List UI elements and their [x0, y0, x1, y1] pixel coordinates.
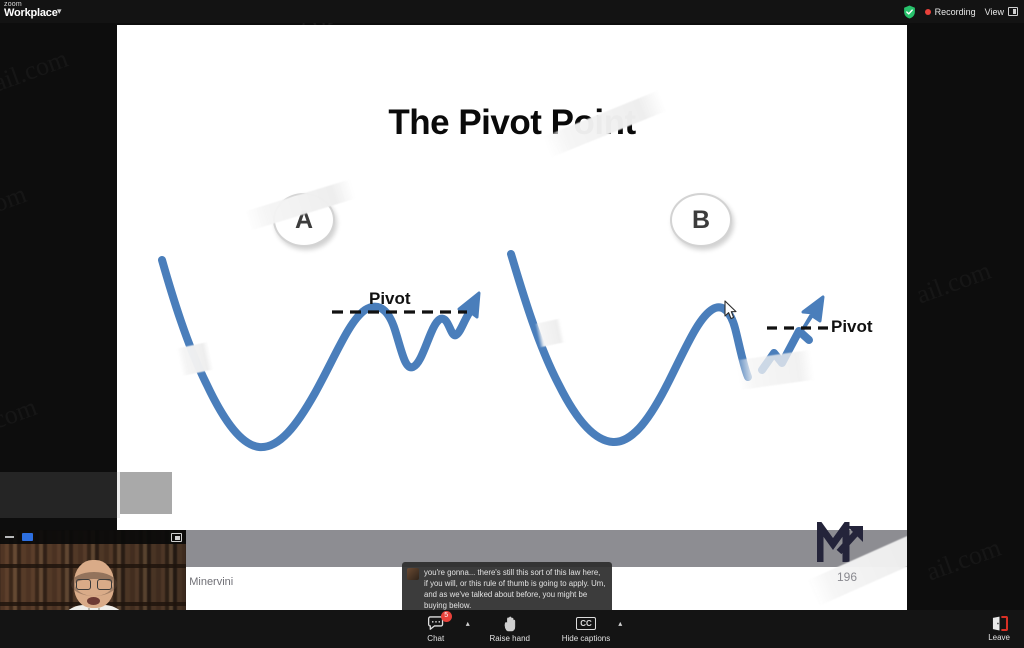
minimize-icon[interactable]: [5, 536, 14, 538]
meeting-toolbar: 5 Chat ▴ Raise hand CC Hide captions ▴: [0, 610, 1024, 648]
view-button[interactable]: View: [985, 7, 1018, 17]
live-caption-box[interactable]: you're gonna... there's still this sort …: [402, 562, 612, 614]
view-label: View: [985, 7, 1004, 17]
zoom-brand[interactable]: zoom Workplace: [4, 1, 58, 20]
caption-text: you're gonna... there's still this sort …: [424, 567, 606, 611]
background-watermark: ail.com: [0, 44, 72, 99]
chevron-down-icon[interactable]: ▾: [57, 6, 62, 17]
breakout-arrow-b-head: [798, 297, 823, 337]
background-watermark: ail.com: [922, 533, 1005, 588]
zoom-brand-main: Workplace: [4, 8, 58, 20]
speaker-avatar: [407, 568, 419, 580]
toolbar-chat-button[interactable]: 5 Chat ▴: [414, 615, 458, 643]
raise-hand-icon: [503, 615, 517, 632]
recording-dot-icon: [925, 9, 931, 15]
glasses-icon: [76, 579, 112, 588]
recording-label: Recording: [935, 7, 976, 17]
thumbnail-placeholder: [120, 472, 172, 514]
price-curve-a: [162, 260, 469, 447]
background-watermark: com: [0, 179, 31, 223]
chat-icon: 5: [427, 615, 445, 632]
pivot-label-b: Pivot: [831, 317, 873, 337]
pivot-label-a: Pivot: [369, 289, 411, 309]
toolbar-captions-label: Hide captions: [562, 634, 610, 643]
chat-unread-badge: 5: [441, 611, 452, 622]
toolbar-chat-label: Chat: [427, 634, 444, 643]
background-watermark: ail.com: [912, 256, 995, 311]
leave-meeting-button[interactable]: Leave: [988, 610, 1010, 648]
toolbar-center-group: 5 Chat ▴ Raise hand CC Hide captions ▴: [0, 610, 1024, 648]
toolbar-captions-button[interactable]: CC Hide captions ▴: [562, 615, 610, 643]
chevron-up-icon[interactable]: ▴: [466, 619, 470, 628]
participant-mouth: [87, 597, 100, 605]
price-curve-b: [511, 254, 748, 442]
shared-screen-slide: The Pivot Point A B Pivot Pivot: [117, 25, 907, 610]
picture-in-picture-icon[interactable]: [171, 533, 182, 542]
top-bar-right-controls: Recording View: [903, 0, 1018, 23]
shield-check-icon[interactable]: [903, 5, 916, 19]
leave-meeting-label: Leave: [988, 633, 1010, 642]
toolbar-raise-hand-button[interactable]: Raise hand: [488, 615, 532, 643]
zoom-meeting-window: ail.com com .com ail.com ail.com com zoo…: [0, 0, 1024, 648]
slide-footer-text: MASTER TRADER PROGRAM with Mark Minervin…: [599, 27, 789, 59]
footer-program-title: MASTER TRADER PROGRAM: [599, 27, 789, 43]
thumbnail-placeholder-backdrop: [0, 472, 120, 518]
recording-indicator[interactable]: Recording: [925, 7, 976, 17]
leave-meeting-icon: [991, 616, 1008, 631]
footer-presenter: with Mark Minervini: [599, 43, 789, 59]
mtp-arrow-logo: [817, 522, 865, 564]
background-watermark: .com: [0, 392, 41, 438]
chevron-up-icon[interactable]: ▴: [618, 619, 622, 628]
video-state-indicator: [22, 533, 33, 541]
layout-view-icon: [1008, 7, 1018, 16]
breakout-arrow-b: [762, 331, 809, 370]
toolbar-raise-hand-label: Raise hand: [490, 634, 530, 643]
slide-page-number: 196: [837, 570, 857, 584]
closed-caption-icon: CC: [576, 615, 596, 632]
window-top-bar: zoom Workplace ▾ Recording View: [0, 0, 1024, 23]
pivot-point-charts: [117, 25, 907, 610]
thumbnail-controls-bar: [0, 530, 186, 544]
